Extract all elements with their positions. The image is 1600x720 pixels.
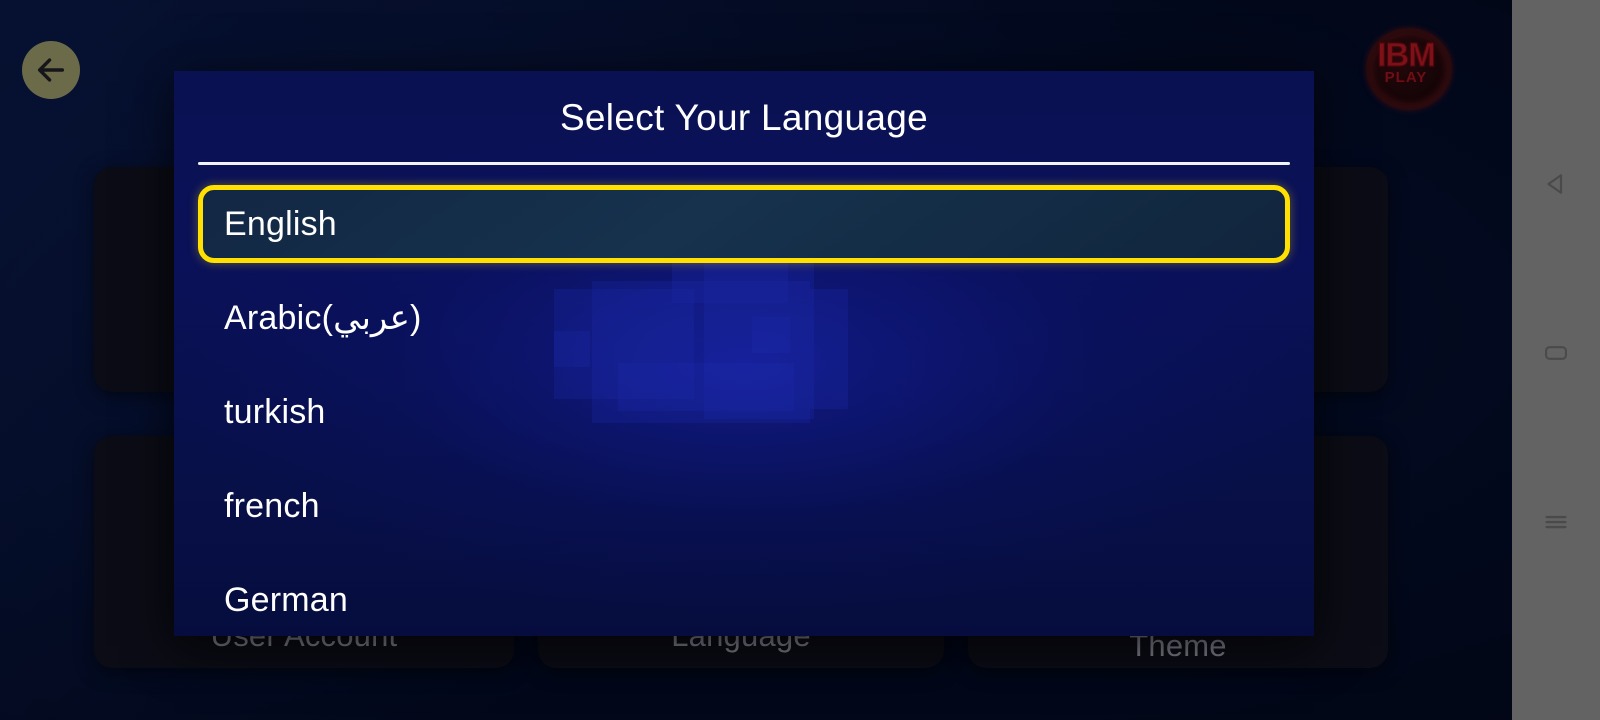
triangle-left-icon <box>1541 169 1571 199</box>
android-home-button[interactable] <box>1512 309 1600 397</box>
language-option-french[interactable]: french <box>198 467 1290 545</box>
language-option-english[interactable]: English <box>198 185 1290 263</box>
dialog-divider <box>198 162 1290 165</box>
language-option-label: English <box>224 205 337 244</box>
app-root: User Account Language Theme IBM PLAY <box>0 0 1512 720</box>
android-recents-button[interactable] <box>1512 478 1600 566</box>
arrow-left-icon <box>34 53 68 87</box>
language-list: English Arabic(عربي) turkish french Germ… <box>174 181 1314 636</box>
language-option-label: french <box>224 487 320 526</box>
language-option-label: German <box>224 581 348 620</box>
rounded-square-icon <box>1542 339 1570 367</box>
language-dialog: Select Your Language English Arabic(عربي… <box>174 71 1314 636</box>
language-option-arabic[interactable]: Arabic(عربي) <box>198 279 1290 357</box>
language-option-label: Arabic(عربي) <box>224 298 422 338</box>
back-button[interactable] <box>22 41 80 99</box>
logo-subword: PLAY <box>1358 69 1454 86</box>
language-option-turkish[interactable]: turkish <box>198 373 1290 451</box>
screen: User Account Language Theme IBM PLAY <box>0 0 1600 720</box>
language-option-label: turkish <box>224 393 326 432</box>
android-back-button[interactable] <box>1512 140 1600 228</box>
android-navbar <box>1512 0 1600 720</box>
brand-logo: IBM PLAY <box>1358 24 1454 104</box>
language-option-german[interactable]: German <box>198 561 1290 636</box>
hamburger-icon <box>1541 507 1571 537</box>
dialog-title: Select Your Language <box>174 97 1314 139</box>
